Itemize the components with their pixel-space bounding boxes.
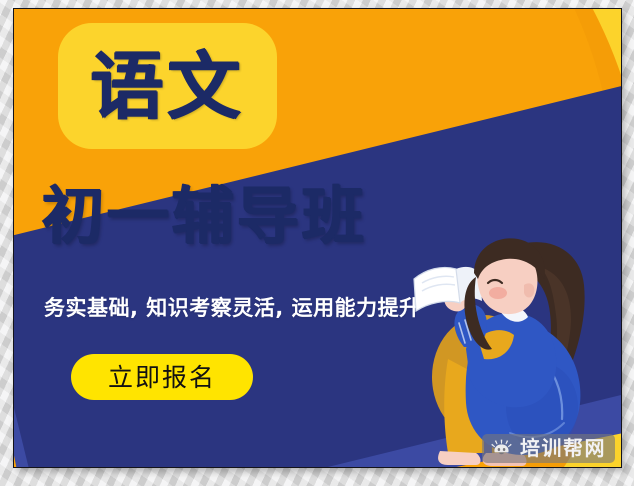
sun-face-icon bbox=[490, 439, 513, 458]
watermark: 培训帮网 bbox=[482, 434, 615, 463]
subtitle: 务实基础, 知识考察灵活, 运用能力提升 bbox=[44, 298, 421, 319]
watermark-text: 培训帮网 bbox=[520, 438, 606, 458]
woman-reading-book-illustration bbox=[412, 227, 622, 468]
headline: 初一辅导班 bbox=[42, 185, 367, 247]
enroll-now-button-label: 立即报名 bbox=[108, 365, 216, 390]
subject-chip-label: 语文 bbox=[91, 50, 245, 123]
page-backdrop: 语文 初一辅导班 务实基础, 知识考察灵活, 运用能力提升 立即报名 bbox=[0, 0, 634, 486]
promo-banner: 语文 初一辅导班 务实基础, 知识考察灵活, 运用能力提升 立即报名 bbox=[13, 8, 622, 468]
subject-chip: 语文 bbox=[58, 23, 277, 149]
enroll-now-button[interactable]: 立即报名 bbox=[71, 354, 253, 400]
